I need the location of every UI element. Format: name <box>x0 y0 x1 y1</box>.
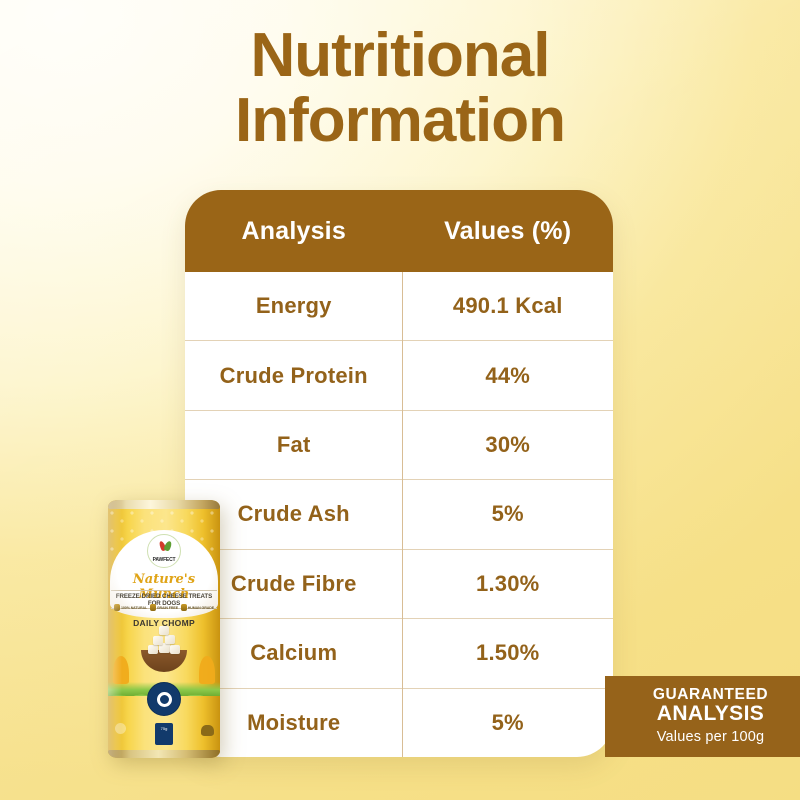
logo-brand-text: PAWFECT <box>148 557 180 563</box>
cell-value: 5% <box>402 710 613 736</box>
cell-analysis: Energy <box>185 293 402 319</box>
page-title-line-2: Information <box>0 91 800 152</box>
cell-value: 1.50% <box>402 640 613 666</box>
table-header-values: Values (%) <box>402 217 613 246</box>
cell-value: 5% <box>402 501 613 527</box>
can-base <box>108 750 220 758</box>
guaranteed-analysis-line-1: GUARANTEED <box>653 687 768 703</box>
can-variant-name: DAILY CHOMP <box>108 618 220 628</box>
table-row: Crude Protein 44% <box>185 340 613 409</box>
claim-label: 100% NATURAL <box>121 606 147 610</box>
can-claims: 100% NATURAL GRAIN FREE HUMAN GRADE <box>114 604 214 611</box>
table-row: Calcium 1.50% <box>185 618 613 687</box>
claim-badge-icon <box>114 604 120 611</box>
dog-silhouette-icon <box>199 656 215 684</box>
claim-label: GRAIN FREE <box>157 606 178 610</box>
page-title: Nutritional Information <box>0 26 800 152</box>
cell-value: 1.30% <box>402 571 613 597</box>
claim-label: HUMAN GRADE <box>188 606 214 610</box>
table-header-row: Analysis Values (%) <box>185 190 613 272</box>
seal-ring-icon <box>157 692 172 707</box>
claim-item: HUMAN GRADE <box>181 604 214 611</box>
dog-silhouette-icon <box>113 656 129 684</box>
table-row: Moisture 5% <box>185 688 613 757</box>
page-title-line-1: Nutritional <box>0 26 800 87</box>
claim-item: GRAIN FREE <box>150 604 178 611</box>
net-weight-badge: 75g <box>155 723 173 745</box>
cell-value: 30% <box>402 432 613 458</box>
cell-analysis: Fat <box>185 432 402 458</box>
leaf-green-icon <box>163 540 173 552</box>
nutrition-table: Analysis Values (%) Energy 490.1 Kcal Cr… <box>185 190 613 757</box>
can-body: 75g PAWFECT Nature's Munch FREEZE-DRIED … <box>108 500 220 758</box>
dog-icon <box>201 725 214 736</box>
guaranteed-analysis-badge: GUARANTEED ANALYSIS Values per 100g <box>605 676 800 757</box>
cell-analysis: Crude Protein <box>185 363 402 389</box>
claim-item: 100% NATURAL <box>114 604 147 611</box>
cheese-cubes-graphic <box>144 626 184 654</box>
table-row: Crude Fibre 1.30% <box>185 549 613 618</box>
table-row: Energy 490.1 Kcal <box>185 272 613 340</box>
cell-value: 490.1 Kcal <box>402 293 613 319</box>
table-row: Fat 30% <box>185 410 613 479</box>
guaranteed-analysis-line-2: ANALYSIS <box>657 703 764 726</box>
product-can-image: 75g PAWFECT Nature's Munch FREEZE-DRIED … <box>108 500 220 758</box>
claim-badge-icon <box>181 604 187 611</box>
can-lid <box>108 500 220 509</box>
table-row: Crude Ash 5% <box>185 479 613 548</box>
table-body: Energy 490.1 Kcal Crude Protein 44% Fat … <box>185 272 613 757</box>
leaf-icon <box>115 723 126 734</box>
pawfect-logo-icon: PAWFECT <box>147 534 181 568</box>
table-column-divider <box>402 272 403 757</box>
table-header-analysis: Analysis <box>185 217 402 246</box>
cell-value: 44% <box>402 363 613 389</box>
claim-badge-icon <box>150 604 156 611</box>
guaranteed-analysis-line-3: Values per 100g <box>657 728 765 746</box>
quality-seal-icon <box>147 682 181 716</box>
